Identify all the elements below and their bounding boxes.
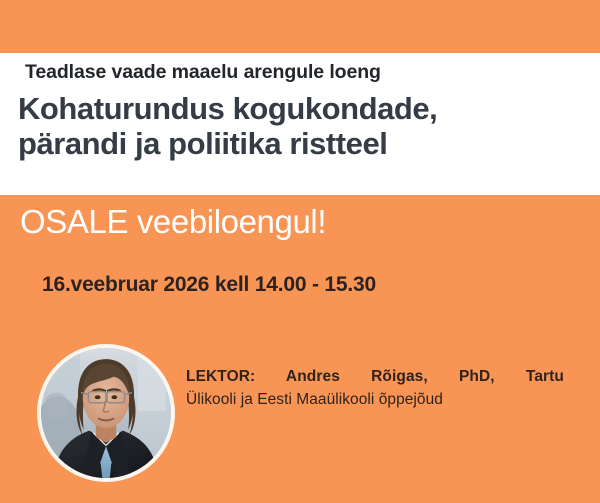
top-orange-strip <box>0 0 600 53</box>
avatar <box>37 344 175 482</box>
speaker-line-1: LEKTOR: Andres Rõigas, PhD, Tartu <box>186 366 564 389</box>
kicker-text: Teadlase vaade maaelu arengule loeng <box>25 61 381 84</box>
speaker-line-2: Ülikooli ja Eesti Maaülikooli õppejõud <box>186 389 564 412</box>
page-title: Kohaturundus kogukondade, pärandi ja pol… <box>18 91 588 162</box>
heading-white-band: Teadlase vaade maaelu arengule loeng Koh… <box>0 53 600 195</box>
page-title-line-1: Kohaturundus kogukondade, <box>18 91 588 126</box>
page-title-line-2: pärandi ja poliitika ristteel <box>18 126 588 161</box>
event-poster: Teadlase vaade maaelu arengule loeng Koh… <box>0 0 600 503</box>
event-datetime: 16.veebruar 2026 kell 14.00 - 15.30 <box>42 273 376 297</box>
speaker-info: LEKTOR: Andres Rõigas, PhD, Tartu Ülikoo… <box>186 366 564 411</box>
cta-text: OSALE veebiloengul! <box>20 203 326 241</box>
speaker-portrait-image <box>41 348 171 478</box>
